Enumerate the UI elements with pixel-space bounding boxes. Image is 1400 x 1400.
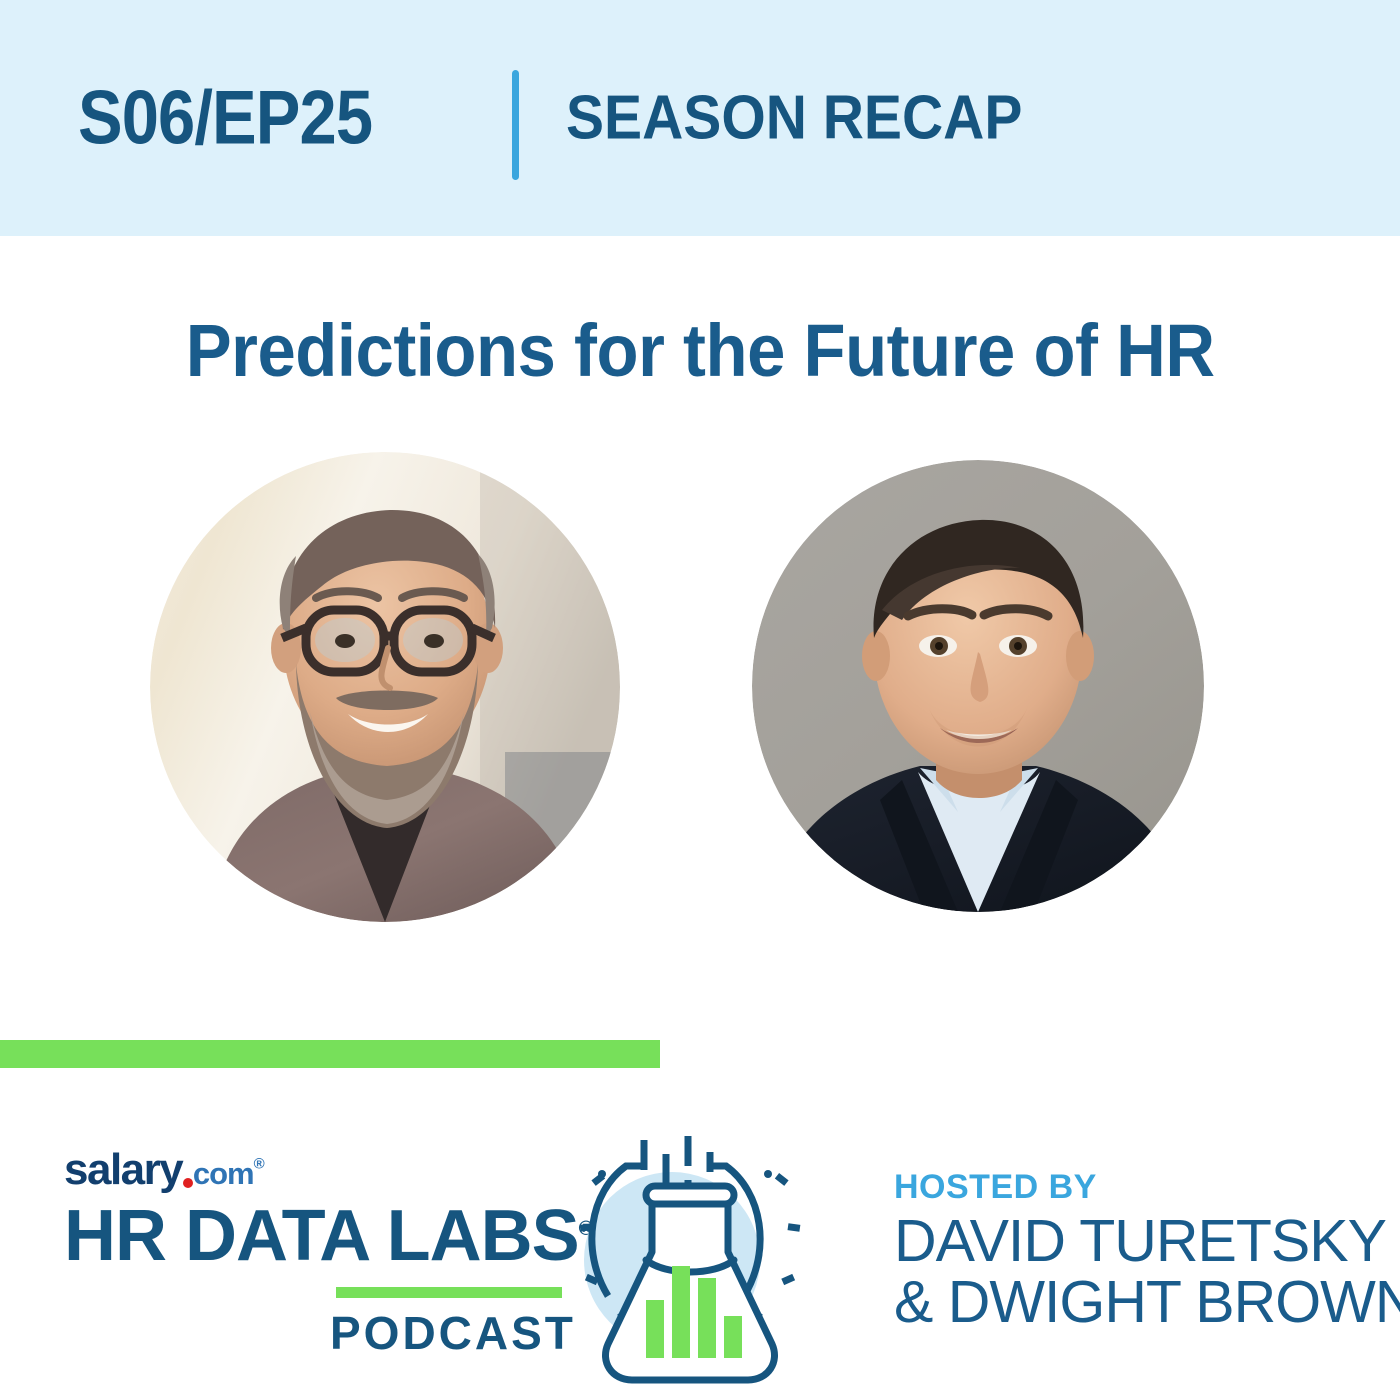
brand-underline bbox=[336, 1287, 562, 1298]
salary-dotcom-suffix: .com bbox=[182, 1156, 253, 1191]
hosted-by-block: HOSTED BY DAVID TURETSKY & DWIGHT BROWN bbox=[894, 1168, 1364, 1334]
hr-data-labs-text: HR DATA LABS bbox=[64, 1196, 579, 1276]
lab-flask-icon bbox=[540, 1100, 840, 1400]
header-subtitle: SEASON RECAP bbox=[566, 83, 1022, 154]
header-banner: S06/EP25 SEASON RECAP bbox=[0, 0, 1400, 236]
host-name-primary: DAVID TURETSKY bbox=[894, 1211, 1364, 1272]
page-title: Predictions for the Future of HR bbox=[0, 308, 1400, 393]
vertical-divider-icon bbox=[512, 70, 519, 180]
host-photo-dwight-brown bbox=[752, 460, 1204, 912]
host-photo-david-turetsky bbox=[150, 452, 620, 922]
dotcom-text: .com bbox=[185, 1156, 253, 1191]
registered-mark-salary: ® bbox=[254, 1155, 265, 1172]
page-title-text: Predictions for the Future of HR bbox=[186, 308, 1215, 393]
episode-code: S06/EP25 bbox=[78, 75, 372, 162]
accent-bar bbox=[0, 1040, 660, 1068]
salary-wordmark: salary bbox=[64, 1145, 182, 1194]
hosted-by-label: HOSTED BY bbox=[894, 1168, 1364, 1207]
host-name-secondary: & DWIGHT BROWN bbox=[894, 1272, 1364, 1333]
